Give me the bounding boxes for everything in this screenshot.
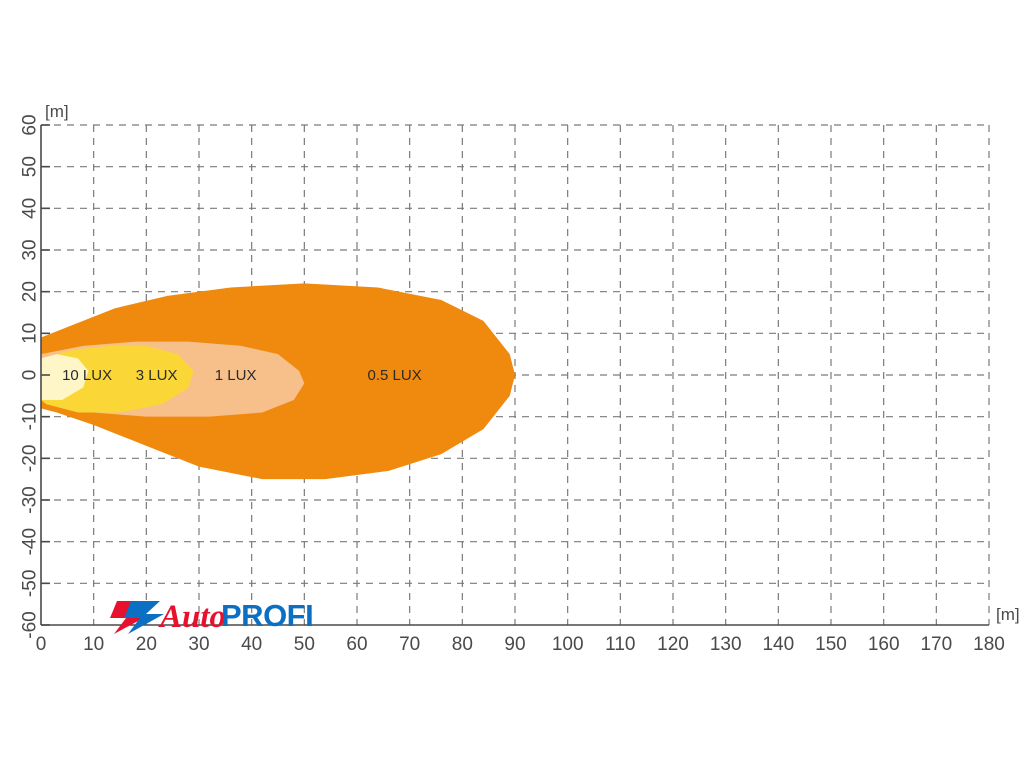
x-axis-unit-label: [m] [996,605,1020,624]
y-tick-label--30: -30 [20,486,41,513]
y-tick-label-20: 20 [20,281,41,302]
y-tick-label--50: -50 [20,570,41,597]
x-tick-label-160: 160 [868,634,900,655]
y-tick-label--20: -20 [20,445,41,472]
x-tick-label-150: 150 [815,634,847,655]
x-tick-label-90: 90 [504,634,525,655]
x-tick-label-30: 30 [188,634,209,655]
lux-label-10-lux: 10 LUX [62,367,112,384]
y-tick-label--10: -10 [20,403,41,430]
x-tick-label-50: 50 [294,634,315,655]
logo-word-profi: PROFI [221,598,313,633]
x-tick-label-100: 100 [552,634,584,655]
x-axis-tick-labels: 0102030405060708090100110120130140150160… [36,634,1005,655]
lux-beam-pattern-chart: 0102030405060708090100110120130140150160… [0,0,1024,768]
lux-label-3-lux: 3 LUX [136,367,178,384]
x-tick-label-110: 110 [605,634,635,655]
chart-canvas: 0102030405060708090100110120130140150160… [0,0,1024,768]
y-tick-label-10: 10 [20,323,41,344]
x-tick-label-40: 40 [241,634,262,655]
x-tick-label-130: 130 [710,634,742,655]
x-tick-label-60: 60 [346,634,367,655]
y-tick-label-40: 40 [20,198,41,219]
x-tick-label-70: 70 [399,634,420,655]
y-tick-label-30: 30 [20,239,41,260]
x-tick-label-120: 120 [657,634,689,655]
y-axis-unit-label: [m] [45,102,69,121]
x-tick-label-10: 10 [83,634,104,655]
y-tick-label--60: -60 [20,611,41,638]
x-tick-label-20: 20 [136,634,157,655]
x-tick-label-180: 180 [973,634,1005,655]
y-tick-label--40: -40 [20,528,41,555]
x-tick-label-140: 140 [762,634,794,655]
y-tick-label-60: 60 [20,114,41,135]
logo-word-auto: Auto [158,599,226,635]
x-tick-label-80: 80 [452,634,473,655]
y-axis-tick-labels: -60-50-40-30-20-100102030405060 [20,114,41,638]
y-tick-label-0: 0 [20,370,41,381]
y-tick-label-50: 50 [20,156,41,177]
autoprofi-logo: Auto PROFI [110,598,313,635]
lux-label-1-lux: 1 LUX [215,367,257,384]
x-tick-label-170: 170 [920,634,952,655]
lux-label-0-5-lux: 0.5 LUX [368,367,422,384]
